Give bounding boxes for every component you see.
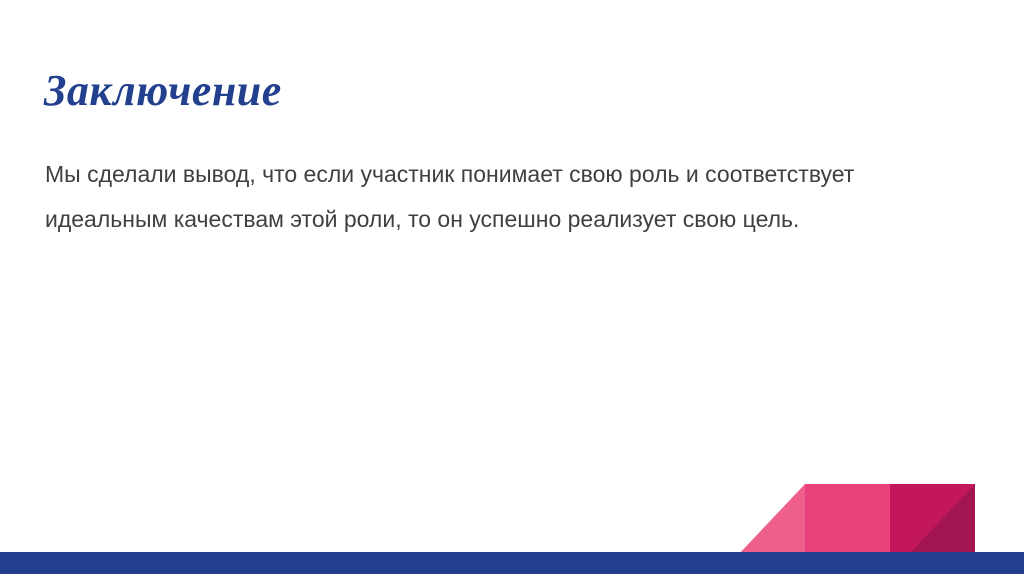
footer-bar: [0, 552, 1024, 574]
page-title: Заключение: [44, 64, 282, 118]
slide-body-text: Мы сделали вывод, что если участник пони…: [45, 152, 945, 242]
slide: Заключение Мы сделали вывод, что если уч…: [0, 0, 1024, 574]
